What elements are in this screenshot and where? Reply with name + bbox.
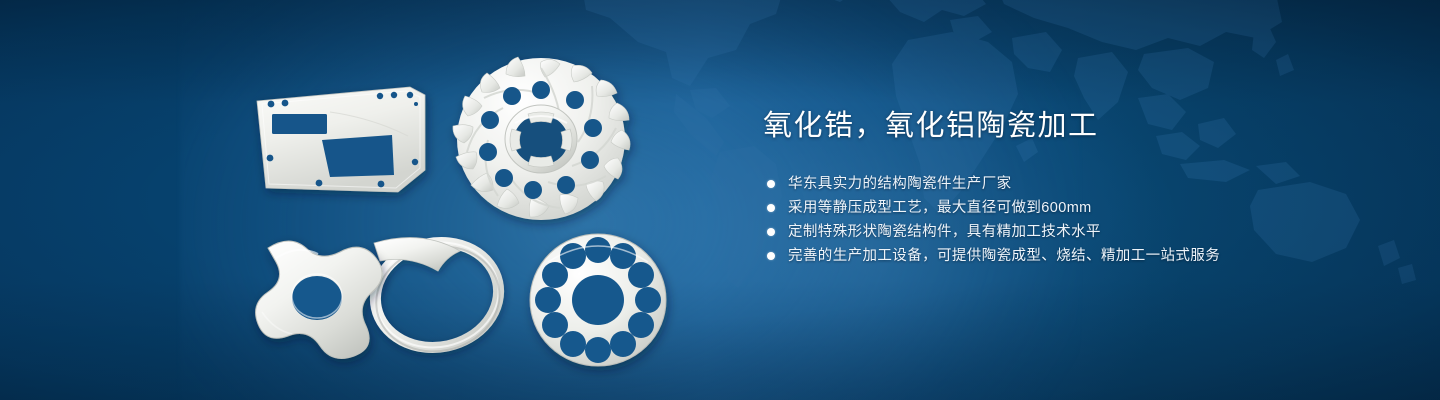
product-ceramic-plate — [257, 87, 425, 192]
banner-headline: 氧化锆，氧化铝陶瓷加工 — [763, 108, 1383, 144]
feature-list-item: 定制特殊形状陶瓷结构件，具有精加工技术水平 — [767, 220, 1383, 244]
feature-text: 定制特殊形状陶瓷结构件，具有精加工技术水平 — [788, 221, 1101, 243]
feature-list-item: 完善的生产加工设备，可提供陶瓷成型、烧结、精加工一站式服务 — [767, 244, 1383, 268]
bullet-dot-icon — [767, 228, 775, 236]
bullet-dot-icon — [767, 180, 775, 188]
feature-text: 采用等静压成型工艺，最大直径可做到600mm — [788, 197, 1092, 219]
product-ceramic-ring — [366, 231, 510, 362]
feature-list-item: 采用等静压成型工艺，最大直径可做到600mm — [767, 196, 1383, 220]
hero-banner: 氧化锆，氧化铝陶瓷加工 华东具实力的结构陶瓷件生产厂家 采用等静压成型工艺，最大… — [0, 0, 1440, 400]
banner-copy: 氧化锆，氧化铝陶瓷加工 华东具实力的结构陶瓷件生产厂家 采用等静压成型工艺，最大… — [763, 108, 1383, 268]
product-ceramic-impeller — [453, 57, 630, 220]
feature-list-item: 华东具实力的结构陶瓷件生产厂家 — [767, 172, 1383, 196]
product-ceramic-perforated-disc — [530, 234, 666, 366]
bullet-dot-icon — [767, 252, 775, 260]
product-ceramic-star-part — [256, 241, 383, 358]
bullet-dot-icon — [767, 204, 775, 212]
feature-text: 华东具实力的结构陶瓷件生产厂家 — [788, 173, 1012, 195]
product-photo-cluster — [0, 0, 720, 400]
banner-feature-list: 华东具实力的结构陶瓷件生产厂家 采用等静压成型工艺，最大直径可做到600mm 定… — [763, 172, 1383, 268]
feature-text: 完善的生产加工设备，可提供陶瓷成型、烧结、精加工一站式服务 — [788, 245, 1220, 267]
